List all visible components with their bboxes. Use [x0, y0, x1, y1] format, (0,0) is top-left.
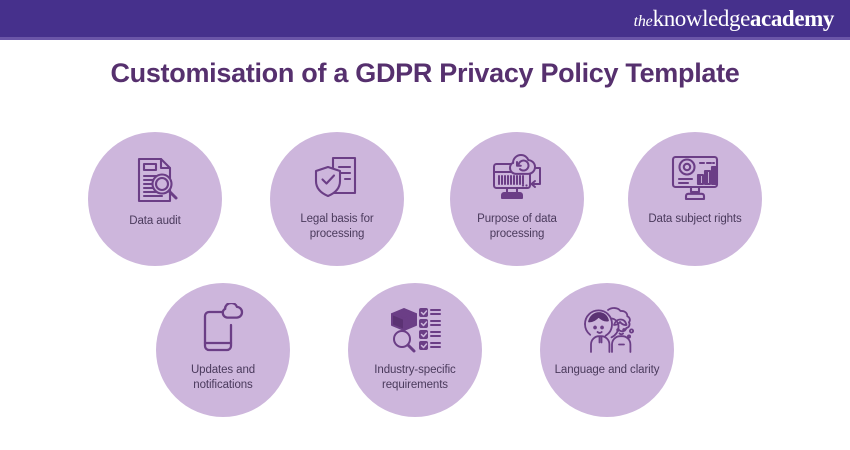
monitor-cloud-sync-icon	[487, 150, 547, 206]
item-label: Data audit	[96, 214, 214, 229]
box-magnifier-checklist-icon	[385, 301, 445, 357]
item-label: Purpose of data processing	[458, 212, 576, 242]
item-circle-data-audit[interactable]: Data audit	[88, 132, 222, 266]
logo-word-knowledge: knowledge	[653, 7, 750, 30]
monitor-dashboard-icon	[665, 150, 725, 206]
header-divider	[0, 37, 850, 40]
item-label: Language and clarity	[548, 363, 666, 378]
item-circle-legal-basis[interactable]: Legal basis for processing	[270, 132, 404, 266]
item-label: Data subject rights	[636, 212, 754, 227]
page-title: Customisation of a GDPR Privacy Policy T…	[0, 58, 850, 89]
item-label: Updates and notifications	[164, 363, 282, 393]
document-magnifier-icon	[125, 152, 185, 208]
brand-logo: theknowledgeacademy	[634, 7, 834, 30]
two-people-talking-icon	[577, 301, 637, 357]
shield-document-icon	[307, 150, 367, 206]
item-label: Legal basis for processing	[278, 212, 396, 242]
phone-cloud-icon	[193, 301, 253, 357]
logo-word-the: the	[634, 14, 653, 30]
header-bar: theknowledgeacademy	[0, 0, 850, 37]
item-circle-data-subject-rights[interactable]: Data subject rights	[628, 132, 762, 266]
item-circle-language-and-clarity[interactable]: Language and clarity	[540, 283, 674, 417]
item-circle-purpose-of-data-processing[interactable]: Purpose of data processing	[450, 132, 584, 266]
logo-word-academy: academy	[750, 7, 834, 30]
item-label: Industry-specific requirements	[356, 363, 474, 393]
item-circle-updates-and-notifications[interactable]: Updates and notifications	[156, 283, 290, 417]
item-circle-industry-specific-requirements[interactable]: Industry-specific requirements	[348, 283, 482, 417]
